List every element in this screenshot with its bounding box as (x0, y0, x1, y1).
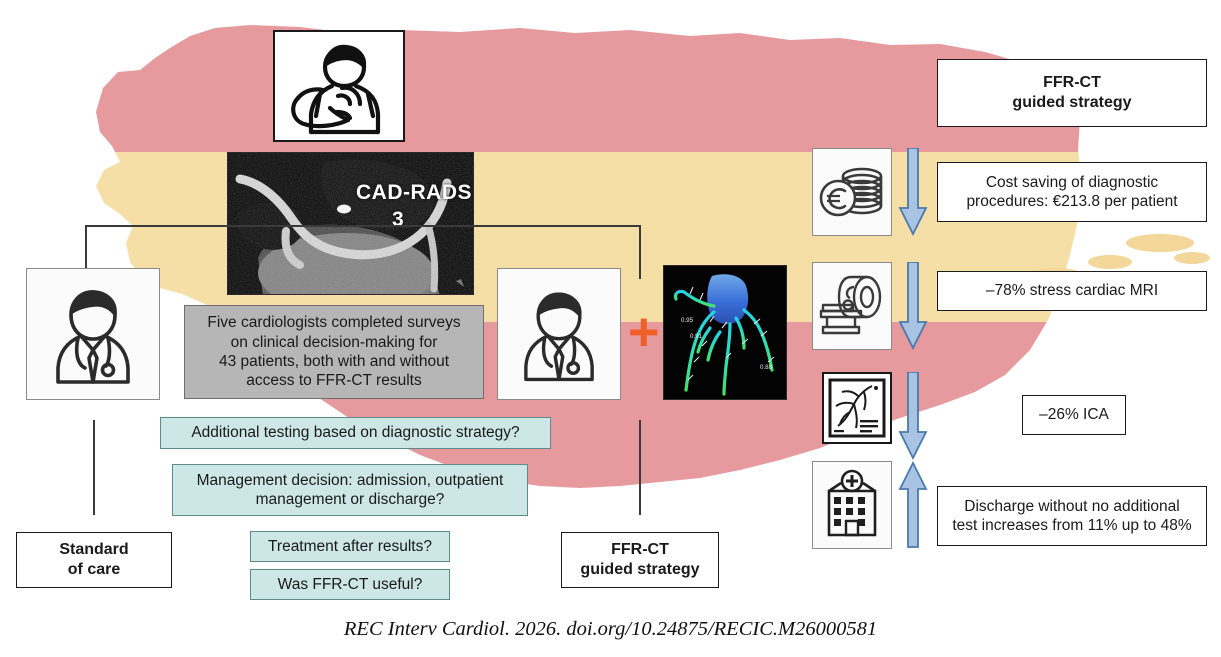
question-box-management-decision: Management decision: admission, outpatie… (172, 464, 528, 516)
ffrct-guided-strategy-bottom-box: FFR-CT guided strategy (561, 532, 719, 588)
question-box-was-ffrct-useful: Was FFR-CT useful? (250, 569, 450, 600)
standard-of-care-line2: of care (68, 560, 120, 580)
cad-rads-label: CAD-RADS (356, 181, 472, 205)
methods-line4: access to FFR-CT results (246, 371, 421, 390)
svg-text:0.91: 0.91 (690, 333, 703, 340)
cost-line1: Cost saving of diagnostic (986, 173, 1158, 192)
question-3-text: Treatment after results? (268, 537, 432, 556)
down-arrow-icon (898, 262, 928, 350)
results-header-line1: FFR-CT (1043, 73, 1101, 93)
ffrct-bottom-line1: FFR-CT (611, 540, 669, 560)
result-box-discharge: Discharge without no additional test inc… (937, 486, 1207, 546)
standard-of-care-box: Standard of care (16, 532, 172, 588)
down-arrow-icon (898, 372, 928, 460)
question-1-text: Additional testing based on diagnostic s… (191, 423, 519, 442)
result-box-cost-saving: Cost saving of diagnostic procedures: €2… (937, 162, 1207, 222)
doctor-stethoscope-icon (497, 268, 621, 400)
mri-scanner-icon (812, 262, 892, 350)
cad-rads-score: 3 (392, 208, 404, 232)
ffrct-bottom-line2: guided strategy (580, 560, 699, 580)
up-arrow-icon (898, 461, 928, 549)
invasive-coronary-angiography-icon (822, 372, 892, 444)
down-arrow-icon (898, 148, 928, 236)
question-2-line1: Management decision: admission, outpatie… (197, 471, 504, 490)
question-2-line2: management or discharge? (256, 490, 445, 509)
coronary-ct-angiography-image: CAD-RADS 3 (227, 152, 474, 295)
connector-left-arm-stem (93, 420, 95, 515)
results-header-box: FFR-CT guided strategy (937, 59, 1207, 127)
ica-line1: –26% ICA (1039, 405, 1109, 424)
cost-line2: procedures: €213.8 per patient (966, 192, 1177, 211)
question-box-treatment-after-results: Treatment after results? (250, 531, 450, 562)
doctor-stethoscope-icon (26, 268, 160, 400)
question-box-additional-testing: Additional testing based on diagnostic s… (160, 417, 551, 449)
svg-text:0.95: 0.95 (681, 317, 694, 324)
discharge-line1: Discharge without no additional (964, 497, 1179, 516)
patient-chest-pain-icon (273, 30, 405, 142)
euro-coins-icon (812, 148, 892, 236)
methods-description-box: Five cardiologists completed surveys on … (184, 305, 484, 399)
methods-line1: Five cardiologists completed surveys (207, 313, 460, 332)
hospital-icon (812, 461, 892, 549)
result-box-ica: –26% ICA (1022, 395, 1126, 435)
graphical-abstract-figure: CAD-RADS 3 Standard of care (0, 0, 1221, 657)
results-header-line2: guided strategy (1012, 93, 1131, 113)
discharge-line2: test increases from 11% up to 48% (952, 516, 1191, 535)
ffr-ct-3d-coronary-tree-image: 0.95 0.91 0.88 (663, 265, 787, 400)
svg-text:0.88: 0.88 (760, 364, 773, 371)
connector-horizontal-top (85, 225, 641, 227)
standard-of-care-line1: Standard (59, 540, 128, 560)
result-box-stress-cardiac-mri: –78% stress cardiac MRI (937, 271, 1207, 311)
methods-line3: 43 patients, both with and without (219, 352, 449, 371)
question-4-text: Was FFR-CT useful? (278, 575, 423, 594)
methods-line2: on clinical decision-making for (231, 333, 438, 352)
citation-text: REC Interv Cardiol. 2026. doi.org/10.248… (0, 618, 1221, 641)
connector-right-arm-stem (639, 420, 641, 515)
mri-line1: –78% stress cardiac MRI (986, 281, 1158, 300)
plus-icon: + (628, 305, 660, 359)
connector-vertical-right (639, 225, 641, 279)
